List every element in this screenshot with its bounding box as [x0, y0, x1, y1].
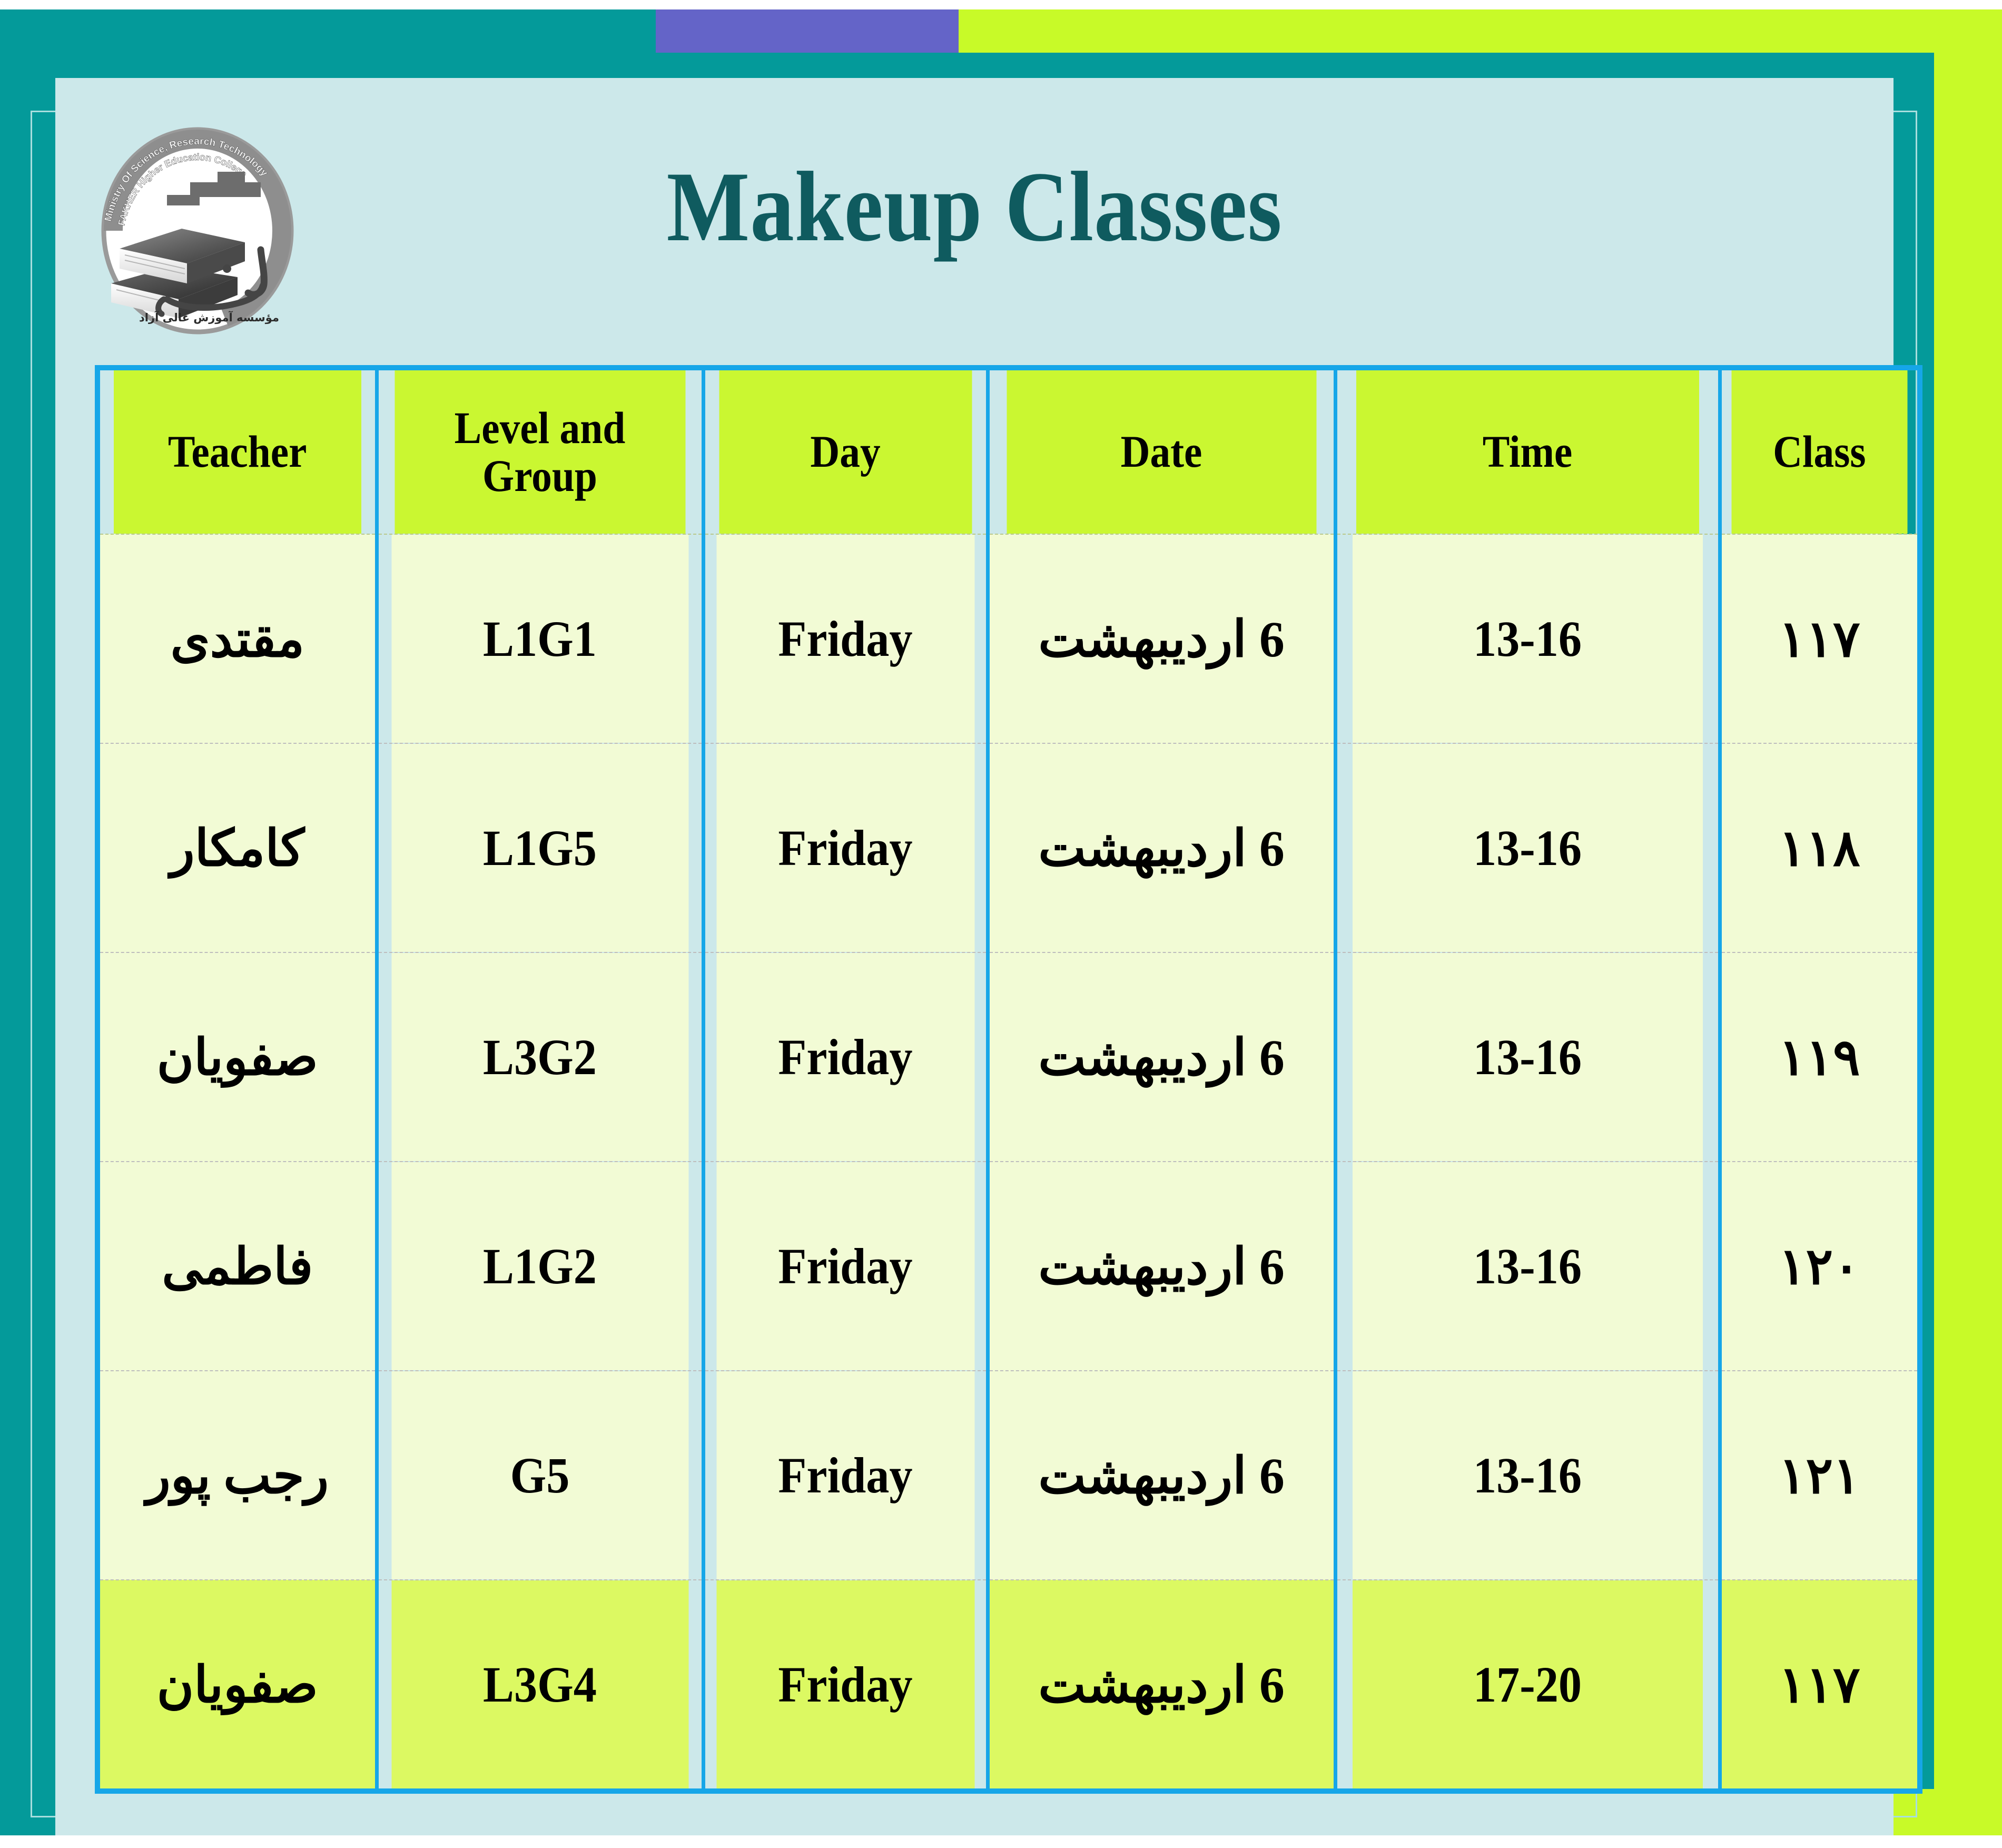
cell-level-group: L3G2: [390, 952, 690, 1162]
page-title: Makeup Classes: [165, 157, 1783, 257]
cell-teacher: کامکار: [97, 743, 377, 952]
table-row: صفویان L3G2 Friday 6 اردیبهشت 13-16 ۱۱۹: [97, 952, 1920, 1162]
cell-level-group: L1G5: [390, 743, 690, 952]
frame-fill-teal: Ministry Of Science, Research Technology…: [0, 53, 1934, 1789]
top-white-margin: [0, 0, 2002, 9]
cell-class: ۱۱۹: [1720, 952, 1920, 1162]
cell-level-group: G5: [390, 1371, 690, 1580]
cell-day: Friday: [715, 534, 977, 743]
svg-text:مؤسسه آموزش عالی آزاد: مؤسسه آموزش عالی آزاد: [139, 311, 279, 324]
table-row: فاطمی L1G2 Friday 6 اردیبهشت 13-16 ۱۲۰: [97, 1162, 1920, 1371]
cell-level-group: L1G1: [390, 534, 690, 743]
cell-day: Friday: [715, 743, 977, 952]
cell-day: Friday: [715, 952, 977, 1162]
cell-class: ۱۲۱: [1720, 1371, 1920, 1580]
cell-teacher: فاطمی: [97, 1162, 377, 1371]
poster-frame: Ministry Of Science, Research Technology…: [0, 9, 2002, 1835]
cell-class: ۱۱۷: [1720, 1580, 1920, 1791]
cell-time: 13-16: [1350, 743, 1704, 952]
cell-day: Friday: [715, 1371, 977, 1580]
cell-teacher: صفویان: [97, 952, 377, 1162]
cell-class: ۱۱۷: [1720, 534, 1920, 743]
cell-level-group: L1G2: [390, 1162, 690, 1371]
table-header: Teacher Level and Group Day Date Time Cl…: [97, 368, 1920, 534]
cell-date: 6 اردیبهشت: [988, 1580, 1335, 1791]
column-header-day: Day: [717, 368, 973, 534]
cell-time: 13-16: [1350, 534, 1704, 743]
table-row: صفویان L3G4 Friday 6 اردیبهشت 17-20 ۱۱۷: [97, 1580, 1920, 1791]
column-header-teacher: Teacher: [112, 368, 363, 534]
cell-time: 13-16: [1350, 1162, 1704, 1371]
table-row: مقتدی L1G1 Friday 6 اردیبهشت 13-16 ۱۱۷: [97, 534, 1920, 743]
cell-teacher: مقتدی: [97, 534, 377, 743]
table-row: کامکار L1G5 Friday 6 اردیبهشت 13-16 ۱۱۸: [97, 743, 1920, 952]
cell-date: 6 اردیبهشت: [988, 743, 1335, 952]
cell-teacher: رجب پور: [97, 1371, 377, 1580]
cell-teacher: صفویان: [97, 1580, 377, 1791]
makeup-classes-table: Teacher Level and Group Day Date Time Cl…: [95, 365, 1922, 1794]
cell-day: Friday: [715, 1162, 977, 1371]
column-header-class: Class: [1730, 368, 1910, 534]
cell-day: Friday: [715, 1580, 977, 1791]
table-row: رجب پور G5 Friday 6 اردیبهشت 13-16 ۱۲۱: [97, 1371, 1920, 1580]
cell-date: 6 اردیبهشت: [988, 952, 1335, 1162]
cell-date: 6 اردیبهشت: [988, 534, 1335, 743]
cell-class: ۱۱۸: [1720, 743, 1920, 952]
column-header-level-group: Level and Group: [393, 368, 687, 534]
schedule-table-wrapper: Teacher Level and Group Day Date Time Cl…: [95, 365, 1917, 1794]
cell-time: 13-16: [1350, 1371, 1704, 1580]
poster-header: Ministry Of Science, Research Technology…: [55, 78, 1893, 378]
bottom-white-margin: [0, 1835, 2002, 1848]
poster-root: Ministry Of Science, Research Technology…: [0, 0, 2002, 1848]
cell-time: 13-16: [1350, 952, 1704, 1162]
content-panel: Ministry Of Science, Research Technology…: [55, 78, 1893, 1843]
cell-level-group: L3G4: [390, 1580, 690, 1791]
cell-date: 6 اردیبهشت: [988, 1162, 1335, 1371]
cell-date: 6 اردیبهشت: [988, 1371, 1335, 1580]
cell-time: 17-20: [1350, 1580, 1704, 1791]
cell-class: ۱۲۰: [1720, 1162, 1920, 1371]
column-header-date: Date: [1005, 368, 1318, 534]
table-body: مقتدی L1G1 Friday 6 اردیبهشت 13-16 ۱۱۷ ک…: [97, 534, 1920, 1791]
column-header-time: Time: [1355, 368, 1701, 534]
table-header-row: Teacher Level and Group Day Date Time Cl…: [97, 368, 1920, 534]
